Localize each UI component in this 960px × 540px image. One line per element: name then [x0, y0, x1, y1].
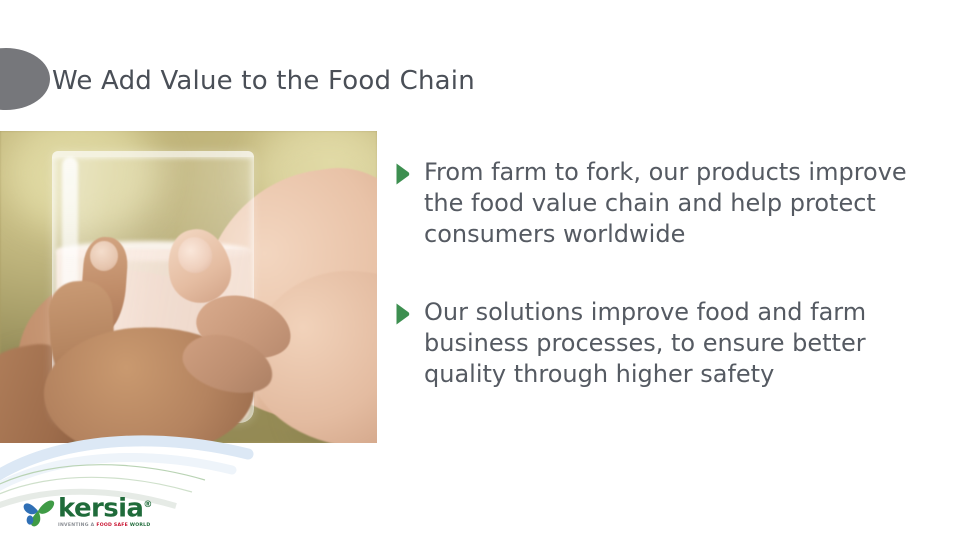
- triangle-right-icon: [396, 162, 410, 184]
- tagline-part-2: FOOD SAFE: [96, 523, 130, 528]
- list-item-label: From farm to fork, our products improve …: [424, 157, 916, 250]
- kersia-wordmark: kersia®: [58, 493, 152, 521]
- kersia-word-text: kersia: [58, 494, 143, 524]
- kersia-logo: kersia® INVENTING A FOOD SAFE WORLD: [22, 492, 152, 530]
- triangle-right-icon: [396, 302, 410, 324]
- tagline-part-3: WORLD: [130, 523, 151, 528]
- trademark-mark: ®: [143, 500, 152, 510]
- bullet-list: From farm to fork, our products improve …: [396, 157, 916, 390]
- page-title: We Add Value to the Food Chain: [52, 62, 852, 100]
- tagline-part-1: INVENTING A: [58, 523, 96, 528]
- list-item: Our solutions improve food and farm busi…: [396, 297, 916, 390]
- title-decor-oval: [0, 48, 50, 110]
- slide-canvas: We Add Value to the Food Chain: [0, 0, 960, 540]
- milk-glass-photo: [0, 131, 377, 443]
- list-item-label: Our solutions improve food and farm busi…: [424, 297, 916, 390]
- kersia-wordmark-block: kersia® INVENTING A FOOD SAFE WORLD: [58, 493, 152, 530]
- kersia-butterfly-icon: [22, 492, 56, 530]
- list-item: From farm to fork, our products improve …: [396, 157, 916, 250]
- kersia-tagline: INVENTING A FOOD SAFE WORLD: [58, 523, 150, 529]
